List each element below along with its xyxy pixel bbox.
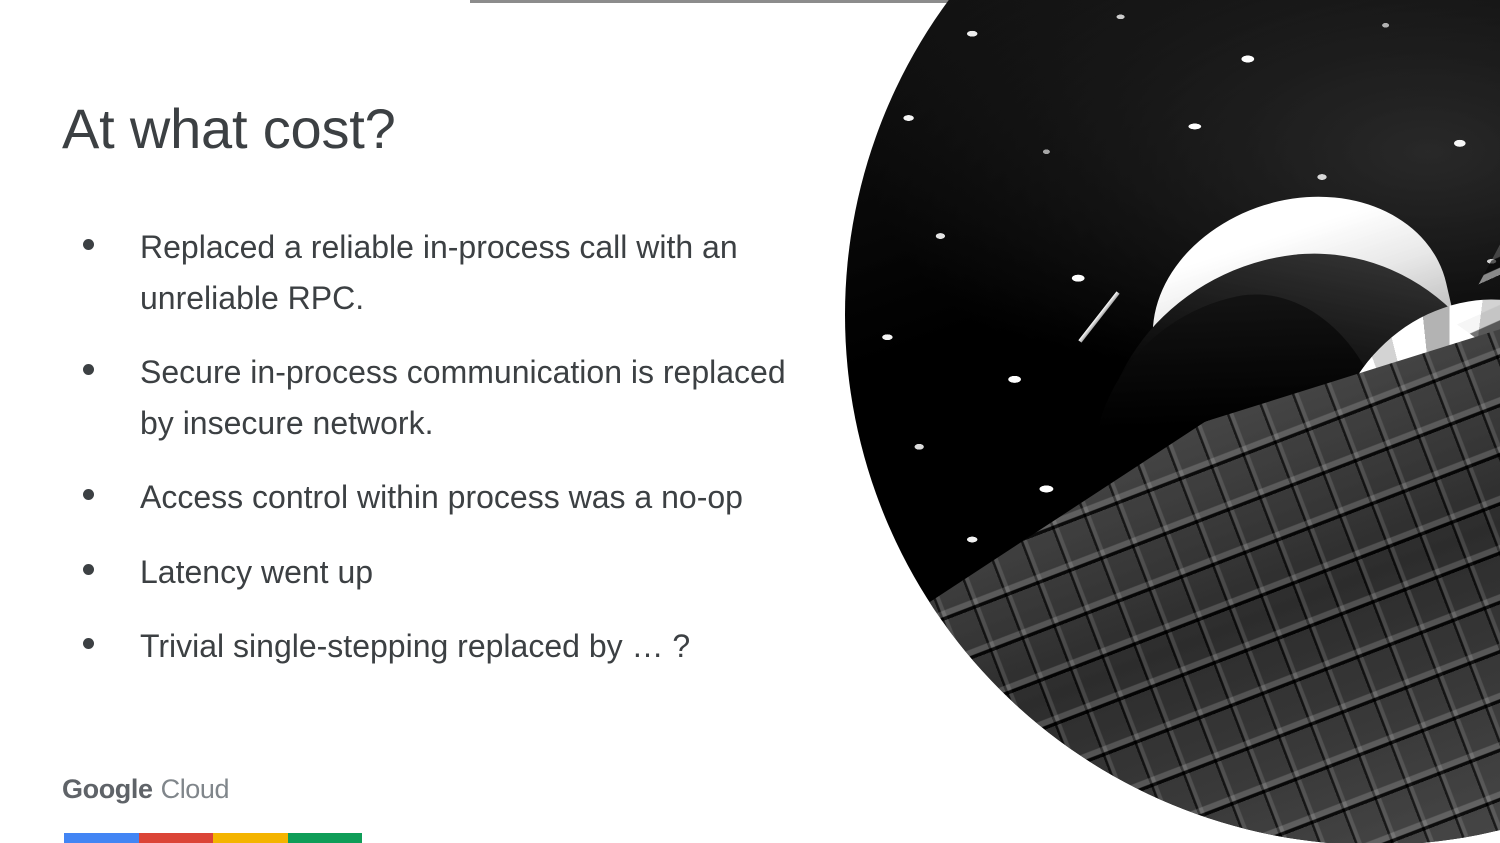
bullet-text: Latency went up	[140, 547, 373, 598]
bullet-text: Secure in-process communication is repla…	[140, 347, 800, 448]
color-bar-segment-yellow	[213, 833, 288, 843]
google-cloud-logo: Google Cloud	[62, 774, 229, 805]
google-color-bar	[64, 833, 362, 843]
color-bar-segment-red	[139, 833, 214, 843]
bullet-dot-icon	[83, 364, 94, 375]
photo-clip	[845, 0, 1500, 843]
list-item: Trivial single-stepping replaced by … ?	[62, 621, 822, 672]
list-item: Access control within process was a no-o…	[62, 472, 822, 523]
logo-google-wordmark: Google	[62, 774, 153, 805]
slide-canvas: At what cost? Replaced a reliable in-pro…	[0, 0, 1500, 843]
bullet-list: Replaced a reliable in-process call with…	[62, 222, 822, 696]
umbrella-pole-left	[1078, 291, 1119, 342]
bullet-text: Access control within process was a no-o…	[140, 472, 743, 523]
color-bar-segment-green	[288, 833, 363, 843]
list-item: Latency went up	[62, 547, 822, 598]
page-title: At what cost?	[62, 98, 396, 160]
list-item: Replaced a reliable in-process call with…	[62, 222, 822, 323]
bullet-dot-icon	[83, 564, 94, 575]
umbrella-roof-photo	[845, 0, 1500, 843]
logo-cloud-wordmark: Cloud	[161, 774, 230, 805]
bullet-text: Trivial single-stepping replaced by … ?	[140, 621, 690, 672]
bullet-dot-icon	[83, 638, 94, 649]
bullet-text: Replaced a reliable in-process call with…	[140, 222, 800, 323]
color-bar-segment-blue	[64, 833, 139, 843]
list-item: Secure in-process communication is repla…	[62, 347, 822, 448]
bullet-dot-icon	[83, 239, 94, 250]
bullet-dot-icon	[83, 489, 94, 500]
